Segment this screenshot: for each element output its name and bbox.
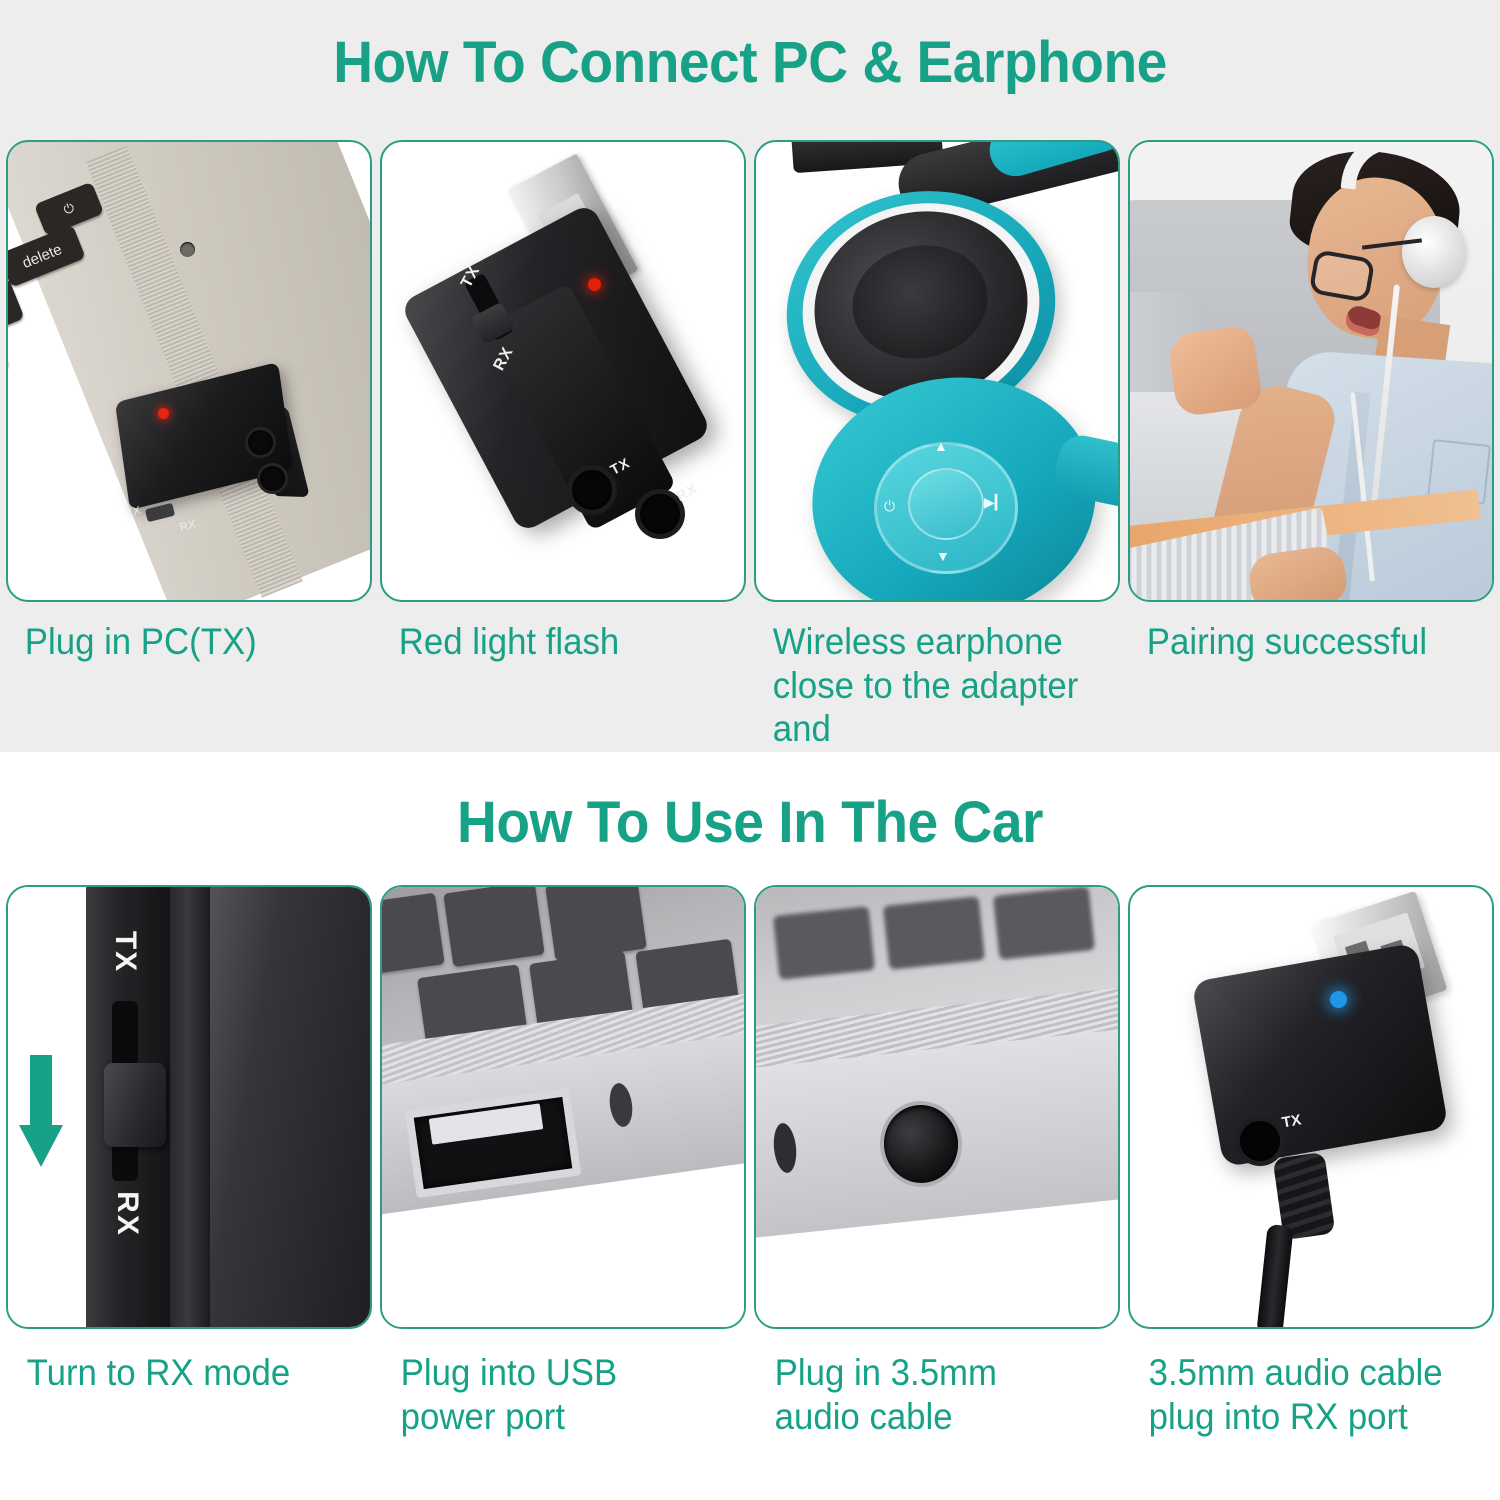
step-image-audio-jack [754,885,1120,1329]
keyboard-key [380,893,445,974]
adapter-body-middle [166,885,210,1329]
keyboard-key [773,906,875,980]
red-led-indicator [588,278,601,291]
rx-audio-port [640,494,680,534]
red-led-indicator [158,408,169,419]
tx-audio-port [572,470,612,510]
step-grid-connect: ⏻ delete / r TX RX Plug in PC(TX) [6,140,1494,795]
step-caption: 3.5mm audio cable plug into RX port [1128,1329,1472,1438]
return-key: r [6,330,10,386]
laptop-audio-jack [180,242,195,257]
keyboard-key [993,886,1095,960]
step-image-man-celebrating [1128,140,1494,602]
step-card-plug-into-usb: Plug into USB power port [380,885,746,1438]
step-card-plug-3-5mm: Plug in 3.5mm audio cable [754,885,1120,1438]
step-image-switch-macro: TX RX [6,885,372,1329]
rx-audio-port [260,466,285,491]
step-caption: Red light flash [380,602,724,664]
keyboard-key [883,896,985,970]
blue-led-indicator [1330,991,1347,1008]
section-title-connect: How To Connect PC & Earphone [38,0,1463,92]
section-title-car: How To Use In The Car [38,752,1463,852]
keyboard-key [545,885,647,961]
step-caption: Turn to RX mode [6,1329,350,1395]
step-image-laptop-adapter: ⏻ delete / r TX RX [6,140,372,602]
down-arrow-icon [30,1055,52,1129]
adapter-body-right [206,885,372,1329]
audio-cable [1256,1224,1293,1329]
step-grid-car: TX RX Turn to RX mode [6,885,1494,1438]
step-caption: Pairing successful [1128,602,1472,664]
step-caption: Plug in PC(TX) [6,602,350,664]
volume-up-icon: ▲ [934,438,948,454]
mode-switch-knob[interactable] [104,1063,166,1147]
down-arrow-head-icon [19,1125,63,1167]
tx-audio-port [248,430,273,455]
play-pause-button-icon [908,468,984,540]
keyboard-key [443,885,544,967]
step-card-wireless-earphone: RX ▲ ⏻ ▶▎ ▼ Wireless earphon [754,140,1120,795]
rx-port-label: RX [673,480,699,504]
step-image-headphones: RX ▲ ⏻ ▶▎ ▼ [754,140,1120,602]
power-icon: ⏻ [884,498,895,515]
slash-key: / [6,277,25,334]
next-track-icon: ▶▎ [984,494,1006,511]
volume-down-icon: ▼ [936,548,950,564]
step-caption: Plug in 3.5mm audio cable [754,1329,1098,1438]
step-image-usb-port [380,885,746,1329]
headphone-earcup [1402,216,1466,288]
step-card-pairing-successful: Pairing successful [1128,140,1494,795]
step-image-adapter-with-cable: TX [1128,885,1494,1329]
step-card-cable-into-rx: TX 3.5mm audio cable plug into RX port [1128,885,1494,1438]
step-image-adapter-hero: TX RX TX RX [380,140,746,602]
tx-label: TX [108,931,142,973]
step-card-plug-in-pc: ⏻ delete / r TX RX Plug in PC(TX) [6,140,372,795]
rx-label: RX [852,140,865,144]
step-caption: Plug into USB power port [380,1329,724,1438]
step-card-red-light-flash: TX RX TX RX Red light flash [380,140,746,795]
step-card-turn-to-rx: TX RX Turn to RX mode [6,885,372,1438]
product-infographic: How To Connect PC & Earphone ⏻ delete / … [0,0,1500,1500]
tx-label: TX [1281,1111,1303,1131]
rx-label: RX [110,1191,144,1237]
bluetooth-adapter-body [1191,943,1448,1168]
person-fist [1167,324,1264,417]
